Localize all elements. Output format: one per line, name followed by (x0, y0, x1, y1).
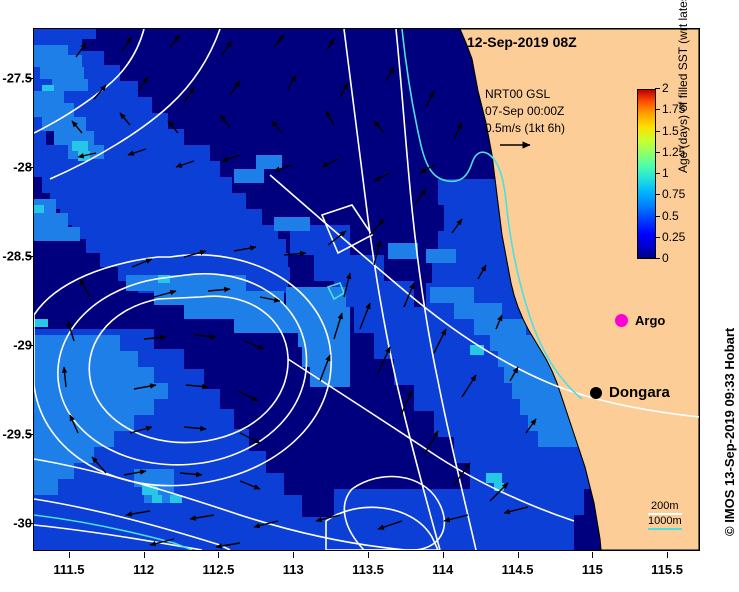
colorbar-tick (655, 258, 660, 259)
colorbar-tick-label: 0.5 (662, 209, 679, 223)
x-tick-label: 112.5 (203, 562, 235, 577)
x-tick (518, 552, 519, 558)
argo-legend-label: Argo (635, 313, 665, 328)
x-tick-label: 112 (133, 562, 154, 577)
y-tick-label: -30 (13, 515, 32, 530)
city-dot-icon (590, 387, 602, 399)
dongara-name: Dongara (609, 384, 670, 401)
argo-legend: Argo (617, 313, 665, 328)
annotation-datetime: 07-Sep 00:00Z (485, 104, 564, 118)
colorbar-tick-label: 0.25 (662, 230, 685, 244)
x-tick (667, 552, 668, 558)
x-tick (592, 552, 593, 558)
map-title: 12-Sep-2019 08Z (467, 34, 577, 50)
y-tick-label: -28 (13, 159, 32, 174)
colorbar-tick-label: 1 (662, 166, 669, 180)
x-tick (144, 552, 145, 558)
x-tick-label: 113.5 (352, 562, 384, 577)
depth-contour-legend: 200m 1000m (648, 500, 682, 530)
x-tick-label: 114.5 (502, 562, 534, 577)
colorbar-title: Age (days) of filled SST (wrt latest) (676, 0, 690, 173)
x-tick (218, 552, 219, 558)
colorbar (637, 89, 656, 259)
dongara-place-label: Dongara (590, 384, 670, 401)
x-tick (69, 552, 70, 558)
y-tick-label: -27.5 (2, 70, 32, 85)
x-tick-label: 113 (283, 562, 304, 577)
colorbar-tick (655, 131, 660, 132)
x-tick-label: 115.5 (651, 562, 683, 577)
colorbar-tick-label: 0 (662, 251, 669, 265)
right-arrow-icon (498, 139, 538, 151)
annotation-vector-scale: 0.5m/s (1kt 6h) (485, 121, 565, 135)
colorbar-tick (655, 109, 660, 110)
colorbar-tick (655, 237, 660, 238)
colorbar-tick-label: 2 (662, 81, 669, 95)
y-tick-label: -29 (13, 337, 32, 352)
sst-age-field (34, 29, 699, 550)
y-tick-label: -28.5 (2, 248, 32, 263)
x-tick-label: 115 (582, 562, 603, 577)
colorbar-tick (655, 216, 660, 217)
annotation-source: NRT00 GSL (485, 87, 550, 101)
figure-canvas: 12-Sep-2019 08Z NRT00 GSL 07-Sep 00:00Z … (0, 0, 739, 592)
x-tick (443, 552, 444, 558)
argo-float-marker-icon (617, 316, 626, 325)
y-tick-label: -29.5 (2, 426, 32, 441)
x-tick (293, 552, 294, 558)
colorbar-tick-label: 0.75 (662, 187, 685, 201)
colorbar-tick (655, 88, 660, 89)
depth-1000m-label: 1000m (648, 515, 682, 530)
x-tick-label: 114 (432, 562, 453, 577)
map-plot-area[interactable]: 12-Sep-2019 08Z NRT00 GSL 07-Sep 00:00Z … (33, 28, 700, 551)
map-graphics (34, 29, 699, 550)
colorbar-tick (655, 152, 660, 153)
colorbar-tick (655, 173, 660, 174)
colorbar-tick (655, 194, 660, 195)
depth-200m-label: 200m (648, 500, 682, 515)
copyright-text: © IMOS 13-Sep-2019 09:33 Hobart (722, 328, 737, 536)
x-tick (368, 552, 369, 558)
x-tick-label: 111.5 (53, 562, 84, 577)
